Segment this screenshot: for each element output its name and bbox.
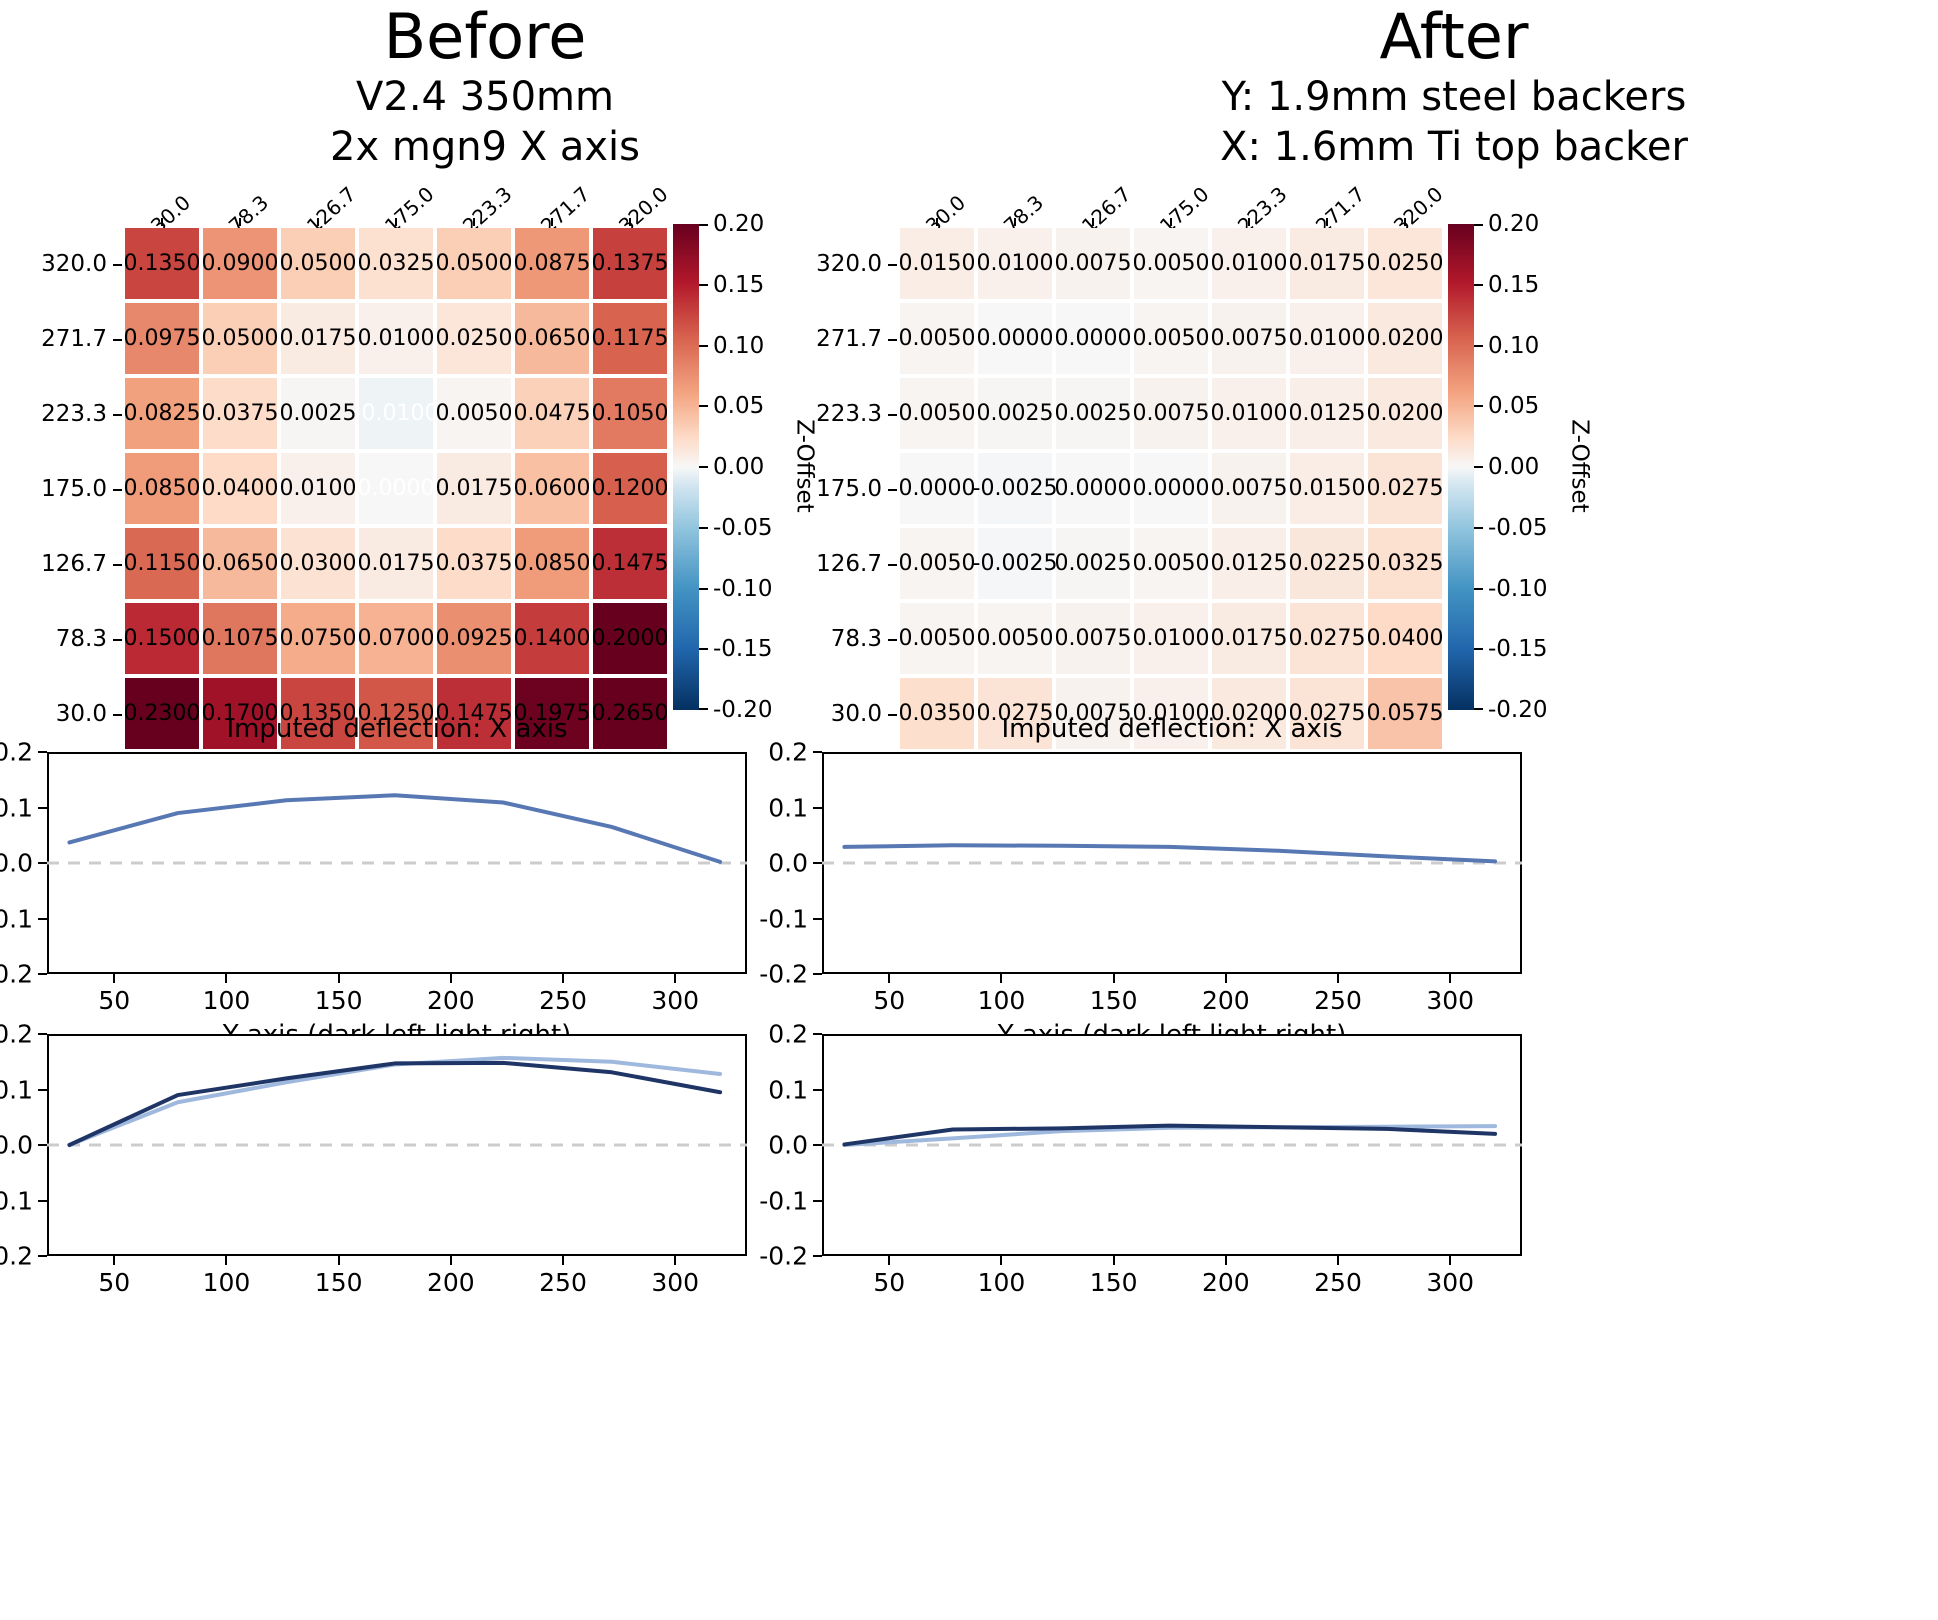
plot-y-tickmark xyxy=(38,807,47,809)
plot-x-tick-label: 150 xyxy=(1090,1268,1138,1297)
colorbar-tick-label: 0.10 xyxy=(1488,333,1539,359)
colorbar-tick-label: -0.10 xyxy=(713,576,773,602)
colorbar-tick-label: 0.15 xyxy=(713,272,764,298)
plot-title: Imputed deflection: X axis xyxy=(47,714,747,744)
heatmap-col-tickmark xyxy=(473,218,475,226)
colorbar-tickmark xyxy=(1474,224,1483,226)
colorbar-tickmark xyxy=(1474,466,1483,468)
colorbar-tick-label: -0.05 xyxy=(1488,515,1548,541)
plot-x-tick-label: 200 xyxy=(427,986,475,1015)
heatmap-cell: 0.0200 xyxy=(1368,303,1442,374)
colorbar-tick-label: 0.20 xyxy=(1488,211,1539,237)
heatmap-cell: 0.0850 xyxy=(515,528,589,599)
plot-x-tickmark xyxy=(113,974,115,983)
plot-y-tick-label: 0.1 xyxy=(758,1075,808,1104)
heatmap-cell: 0.0650 xyxy=(515,303,589,374)
heatmap-cell: 0.1200 xyxy=(593,453,667,524)
plot-y-tickmark xyxy=(38,1089,47,1091)
plot-y-tick-label: 0.1 xyxy=(758,793,808,822)
plot-line-dark xyxy=(69,1063,720,1145)
heatmap-cell: 0.0050 xyxy=(978,603,1052,674)
heatmap-cell: 0.0075 xyxy=(1212,453,1286,524)
heatmap-row-label: 78.3 xyxy=(800,626,882,652)
heatmap-cell: 0.0275 xyxy=(1290,603,1364,674)
plot-y-tickmark xyxy=(38,918,47,920)
plot-y-tickmark xyxy=(38,1200,47,1202)
heatmap-row-tickmark xyxy=(888,489,897,491)
heatmap-cell: 0.0000 xyxy=(1134,453,1208,524)
heatmap-cell: 0.1475 xyxy=(593,528,667,599)
heatmap-cell: 0.0175 xyxy=(359,528,433,599)
colorbar-tickmark xyxy=(1474,405,1483,407)
plot-x-tickmark xyxy=(562,1256,564,1265)
plot-x-tick-label: 250 xyxy=(539,1268,587,1297)
heatmap-cell: 0.0175 xyxy=(1290,228,1364,299)
heatmap-row-tickmark xyxy=(113,264,122,266)
heatmap-cell: 0.0150 xyxy=(900,228,974,299)
plot-x-tickmark xyxy=(450,1256,452,1265)
colorbar-axis-label: Z-Offset xyxy=(1567,419,1593,512)
heatmap-cell: 0.0075 xyxy=(1056,228,1130,299)
plot-x-tickmark xyxy=(1449,974,1451,983)
plot-x-tick-label: 300 xyxy=(651,1268,699,1297)
heatmap-cell: 0.1075 xyxy=(203,603,277,674)
heatmap-cell: 0.0000 xyxy=(1056,303,1130,374)
figure-canvas: Before V2.4 350mm 2x mgn9 X axis 30.078.… xyxy=(0,0,1938,1620)
heatmap-cell: -0.0025 xyxy=(978,528,1052,599)
plot-y-tickmark xyxy=(813,1089,822,1091)
heatmap-row-tickmark xyxy=(888,414,897,416)
heatmap-cell: 0.0225 xyxy=(1290,528,1364,599)
plot-x-tick-label: 200 xyxy=(1202,986,1250,1015)
colorbar-tick-label: -0.15 xyxy=(1488,636,1548,662)
heatmap-cell: 0.1350 xyxy=(125,228,199,299)
plot-x-tick-label: 250 xyxy=(1314,1268,1362,1297)
heatmap-cell: 0.0075 xyxy=(1212,303,1286,374)
heatmap-cell: 0.0475 xyxy=(515,378,589,449)
heatmap-col-tickmark xyxy=(317,218,319,226)
colorbar-tick-label: 0.05 xyxy=(713,393,764,419)
plot-y-tick-label: 0.0 xyxy=(758,1131,808,1160)
heatmap-col-tickmark xyxy=(936,218,938,226)
plot-x-tick-label: 100 xyxy=(978,986,1026,1015)
heatmap-cell: 0.0050 xyxy=(900,603,974,674)
panel-title-before: Before xyxy=(0,4,970,70)
plot-x-tickmark xyxy=(450,974,452,983)
plot-y-tickmark xyxy=(813,862,822,864)
colorbar-tick-label: -0.10 xyxy=(1488,576,1548,602)
heatmap-cell: 0.0000 xyxy=(900,453,974,524)
plot-y-tick-label: 0.2 xyxy=(758,738,808,767)
plot-x-tick-label: 150 xyxy=(315,1268,363,1297)
heatmap-cell: 0.1500 xyxy=(125,603,199,674)
plot-x-tickmark xyxy=(1225,1256,1227,1265)
heatmap-row-label: 271.7 xyxy=(800,326,882,352)
heatmap-cell: 0.0175 xyxy=(1212,603,1286,674)
plot-x-tick-label: 300 xyxy=(1426,986,1474,1015)
plot-x-tickmark xyxy=(225,1256,227,1265)
heatmap-col-tickmark xyxy=(239,218,241,226)
plot-x-tickmark xyxy=(1000,1256,1002,1265)
plot-y-tickmark xyxy=(38,1144,47,1146)
heatmap-cell: 0.0175 xyxy=(281,303,355,374)
heatmap-cell: 0.0100 xyxy=(978,228,1052,299)
heatmap-cell: 0.0125 xyxy=(1212,528,1286,599)
plot-y-tick-label: -0.1 xyxy=(758,904,808,933)
heatmap-col-tickmark xyxy=(1170,218,1172,226)
heatmap-row-tickmark xyxy=(113,489,122,491)
plot-x-tickmark xyxy=(338,1256,340,1265)
plot-y-tickmark xyxy=(813,918,822,920)
heatmap-cell: 0.0150 xyxy=(1290,453,1364,524)
plot-y-tick-label: 0.0 xyxy=(758,849,808,878)
heatmap-col-tickmark xyxy=(1092,218,1094,226)
plot-x-tick-label: 50 xyxy=(98,986,130,1015)
heatmap-cell: 0.0925 xyxy=(437,603,511,674)
heatmap-row-label: 320.0 xyxy=(800,251,882,277)
colorbar-tick-label: 0.00 xyxy=(1488,454,1539,480)
plot-x-tick-label: 200 xyxy=(427,1268,475,1297)
heatmap-cell: 0.0500 xyxy=(203,303,277,374)
heatmap-cell: 0.0750 xyxy=(281,603,355,674)
heatmap-col-tickmark xyxy=(161,218,163,226)
plot-x-tickmark xyxy=(338,974,340,983)
plot-y-tick-label: -0.2 xyxy=(0,960,33,989)
plot-y-tickmark xyxy=(813,1255,822,1257)
heatmap-cell: 0.0025 xyxy=(1056,528,1130,599)
heatmap-cell: 0.0050 xyxy=(1134,303,1208,374)
lineplot-before-bottom: 0.20.10.0-0.1-0.250100150200250300 xyxy=(47,1034,747,1256)
plot-x-tickmark xyxy=(1000,974,1002,983)
colorbar-gradient xyxy=(1448,224,1474,710)
plot-y-tickmark xyxy=(38,751,47,753)
panel-title-after: After xyxy=(969,4,1938,70)
heatmap-cell: 0.0025 xyxy=(281,378,355,449)
heatmap-row-tickmark xyxy=(888,564,897,566)
plot-x-tickmark xyxy=(888,1256,890,1265)
plot-x-tickmark xyxy=(674,974,676,983)
heatmap-cell: 0.0375 xyxy=(203,378,277,449)
heatmap-cell: 0.0000 xyxy=(359,453,433,524)
colorbar-after: 0.200.150.100.050.00-0.05-0.10-0.15-0.20… xyxy=(1448,224,1588,710)
colorbar-tick-label: 0.20 xyxy=(713,211,764,237)
heatmap-cell: 0.0375 xyxy=(437,528,511,599)
heatmap-col-tickmark xyxy=(629,218,631,226)
heatmap-cell: 0.0975 xyxy=(125,303,199,374)
colorbar-tickmark xyxy=(1474,708,1483,710)
heatmap-row-label: 223.3 xyxy=(800,401,882,427)
colorbar-tickmark xyxy=(699,405,708,407)
colorbar-tickmark xyxy=(1474,284,1483,286)
lineplot-before-middle: Imputed deflection: X axis0.20.10.0-0.1-… xyxy=(47,752,747,974)
plot-y-tickmark xyxy=(38,973,47,975)
colorbar-tickmark xyxy=(699,648,708,650)
heatmap-row-label: 78.3 xyxy=(25,626,107,652)
heatmap-cell: 0.0100 xyxy=(1212,228,1286,299)
heatmap-cell: 0.0900 xyxy=(203,228,277,299)
heatmap-cell: 0.1050 xyxy=(593,378,667,449)
colorbar-tick-label: -0.05 xyxy=(713,515,773,541)
plot-x-tick-label: 100 xyxy=(203,986,251,1015)
heatmap-cell: 0.1375 xyxy=(593,228,667,299)
colorbar-tick-label: -0.15 xyxy=(713,636,773,662)
plot-x-tickmark xyxy=(225,974,227,983)
heatmap-row-label: 223.3 xyxy=(25,401,107,427)
plot-x-tick-label: 300 xyxy=(651,986,699,1015)
plot-line-deflection xyxy=(69,795,720,862)
plot-x-tickmark xyxy=(1113,1256,1115,1265)
heatmap-row-tickmark xyxy=(888,339,897,341)
colorbar-tick-label: 0.10 xyxy=(713,333,764,359)
plot-y-tick-label: 0.2 xyxy=(0,738,33,767)
colorbar-tickmark xyxy=(1474,345,1483,347)
plot-y-tick-label: -0.2 xyxy=(0,1242,33,1271)
colorbar-tickmark xyxy=(699,466,708,468)
heatmap-cell: 0.0250 xyxy=(1368,228,1442,299)
plot-y-tick-label: 0.0 xyxy=(0,1131,33,1160)
plot-y-tick-label: 0.0 xyxy=(0,849,33,878)
heatmap-cell: 0.0250 xyxy=(437,303,511,374)
heatmap-cell: 0.0175 xyxy=(437,453,511,524)
heatmap-cell: -0.0100 xyxy=(359,378,433,449)
colorbar-tickmark xyxy=(1474,588,1483,590)
heatmap-cell: 0.0100 xyxy=(1134,603,1208,674)
heatmap-cell: 0.0200 xyxy=(1368,378,1442,449)
colorbar-gradient xyxy=(673,224,699,710)
plot-line-deflection xyxy=(844,845,1495,861)
heatmap-cell: 0.0000 xyxy=(1056,453,1130,524)
colorbar-tickmark xyxy=(699,345,708,347)
plot-y-tick-label: -0.1 xyxy=(758,1186,808,1215)
plot-y-tick-label: -0.2 xyxy=(758,1242,808,1271)
heatmap-cell: 0.0125 xyxy=(1290,378,1364,449)
colorbar-tickmark xyxy=(1474,527,1483,529)
plot-x-tickmark xyxy=(1337,974,1339,983)
heatmap-row-label: 175.0 xyxy=(25,476,107,502)
heatmap-row-tickmark xyxy=(888,639,897,641)
heatmap-cell: 0.0075 xyxy=(1134,378,1208,449)
plot-y-tickmark xyxy=(38,1033,47,1035)
plot-series-layer xyxy=(822,1034,1522,1256)
heatmap-cell: 0.0850 xyxy=(125,453,199,524)
heatmap-col-tickmark xyxy=(1014,218,1016,226)
plot-x-tickmark xyxy=(1449,1256,1451,1265)
plot-y-tickmark xyxy=(38,1255,47,1257)
plot-y-tickmark xyxy=(813,1200,822,1202)
heatmap-cell: 0.0650 xyxy=(203,528,277,599)
panel-subtitle-before-1: V2.4 350mm xyxy=(0,72,970,122)
plot-x-tick-label: 50 xyxy=(873,1268,905,1297)
heatmap-cell: 0.0050 xyxy=(1134,228,1208,299)
plot-y-tick-label: 0.2 xyxy=(0,1020,33,1049)
heatmap-cell: 0.0050 xyxy=(1134,528,1208,599)
lineplot-after-bottom: 0.20.10.0-0.1-0.250100150200250300 xyxy=(822,1034,1522,1256)
colorbar-tickmark xyxy=(699,708,708,710)
heatmap-cell: 0.0050 xyxy=(900,303,974,374)
plot-x-tickmark xyxy=(888,974,890,983)
heatmap-row-tickmark xyxy=(113,639,122,641)
heatmap-cell: 0.0050 xyxy=(900,378,974,449)
heatmap-cell: 0.0050 xyxy=(437,378,511,449)
plot-x-tickmark xyxy=(1113,974,1115,983)
plot-series-layer xyxy=(47,1034,747,1256)
heatmap-row-tickmark xyxy=(113,564,122,566)
plot-series-layer xyxy=(822,752,1522,974)
heatmap-cell: 0.1400 xyxy=(515,603,589,674)
lineplot-after-middle: Imputed deflection: X axis0.20.10.0-0.1-… xyxy=(822,752,1522,974)
plot-y-tick-label: 0.1 xyxy=(0,793,33,822)
heatmap-cell: 0.0875 xyxy=(515,228,589,299)
plot-x-tickmark xyxy=(562,974,564,983)
heatmap-cell: 0.0500 xyxy=(281,228,355,299)
heatmap-cell: -0.0025 xyxy=(978,453,1052,524)
heatmap-cell: 0.0825 xyxy=(125,378,199,449)
colorbar-tickmark xyxy=(699,588,708,590)
heatmap-cell: 0.0100 xyxy=(1212,378,1286,449)
plot-y-tick-label: -0.2 xyxy=(758,960,808,989)
heatmap-col-tickmark xyxy=(1404,218,1406,226)
plot-y-tick-label: -0.1 xyxy=(0,1186,33,1215)
heatmap-row-label: 271.7 xyxy=(25,326,107,352)
heatmap-cell: 0.0400 xyxy=(203,453,277,524)
heatmap-col-tickmark xyxy=(1248,218,1250,226)
plot-x-tick-label: 50 xyxy=(873,986,905,1015)
plot-x-tickmark xyxy=(1337,1256,1339,1265)
plot-x-tick-label: 100 xyxy=(203,1268,251,1297)
plot-y-tickmark xyxy=(813,1144,822,1146)
heatmap-row-label: 126.7 xyxy=(25,551,107,577)
panel-subtitle-after-1: Y: 1.9mm steel backers xyxy=(969,72,1938,122)
plot-x-tick-label: 150 xyxy=(315,986,363,1015)
heatmap-col-tickmark xyxy=(551,218,553,226)
heatmap-row-tickmark xyxy=(113,414,122,416)
plot-x-tick-label: 100 xyxy=(978,1268,1026,1297)
plot-x-tick-label: 250 xyxy=(539,986,587,1015)
colorbar-tickmark xyxy=(699,224,708,226)
heatmap-cell: 0.0275 xyxy=(1368,453,1442,524)
heatmap-cell: 0.1175 xyxy=(593,303,667,374)
heatmap-cell: 0.0025 xyxy=(1056,378,1130,449)
heatmap-row-label: 320.0 xyxy=(25,251,107,277)
plot-y-tick-label: -0.1 xyxy=(0,904,33,933)
heatmap-cell: 0.0325 xyxy=(359,228,433,299)
heatmap-cell: 0.0050 xyxy=(900,528,974,599)
plot-y-tick-label: 0.2 xyxy=(758,1020,808,1049)
plot-x-tick-label: 200 xyxy=(1202,1268,1250,1297)
heatmap-cell: 0.0075 xyxy=(1056,603,1130,674)
heatmap-cell: 0.1150 xyxy=(125,528,199,599)
plot-y-tickmark xyxy=(813,973,822,975)
heatmap-cell: 0.0000 xyxy=(978,303,1052,374)
colorbar-tickmark xyxy=(699,527,708,529)
plot-x-tick-label: 50 xyxy=(98,1268,130,1297)
colorbar-tickmark xyxy=(1474,648,1483,650)
heatmap-row-label: 175.0 xyxy=(800,476,882,502)
plot-x-tickmark xyxy=(113,1256,115,1265)
plot-y-tickmark xyxy=(38,862,47,864)
heatmap-cell: 0.0325 xyxy=(1368,528,1442,599)
plot-x-tick-label: 150 xyxy=(1090,986,1138,1015)
plot-series-layer xyxy=(47,752,747,974)
heatmap-cell: 0.0700 xyxy=(359,603,433,674)
plot-title: Imputed deflection: X axis xyxy=(822,714,1522,744)
heatmap-col-tickmark xyxy=(395,218,397,226)
plot-y-tickmark xyxy=(813,1033,822,1035)
heatmap-cell: 0.0025 xyxy=(978,378,1052,449)
heatmap-row-tickmark xyxy=(113,339,122,341)
heatmap-cell: 0.2000 xyxy=(593,603,667,674)
heatmap-cell: 0.0500 xyxy=(437,228,511,299)
heatmap-cell: 0.0600 xyxy=(515,453,589,524)
plot-x-tickmark xyxy=(674,1256,676,1265)
plot-y-tickmark xyxy=(813,751,822,753)
heatmap-row-tickmark xyxy=(888,264,897,266)
colorbar-tick-label: 0.15 xyxy=(1488,272,1539,298)
heatmap-col-tickmark xyxy=(1326,218,1328,226)
colorbar-tickmark xyxy=(699,284,708,286)
plot-x-tick-label: 300 xyxy=(1426,1268,1474,1297)
heatmap-cell: 0.0400 xyxy=(1368,603,1442,674)
heatmap-cell: 0.0100 xyxy=(1290,303,1364,374)
colorbar-tick-label: 0.00 xyxy=(713,454,764,480)
plot-y-tickmark xyxy=(813,807,822,809)
heatmap-row-label: 126.7 xyxy=(800,551,882,577)
plot-y-tick-label: 0.1 xyxy=(0,1075,33,1104)
heatmap-cell: 0.0100 xyxy=(281,453,355,524)
plot-x-tick-label: 250 xyxy=(1314,986,1362,1015)
heatmap-cell: 0.0100 xyxy=(359,303,433,374)
plot-x-tickmark xyxy=(1225,974,1227,983)
colorbar-tick-label: 0.05 xyxy=(1488,393,1539,419)
heatmap-cell: 0.0300 xyxy=(281,528,355,599)
